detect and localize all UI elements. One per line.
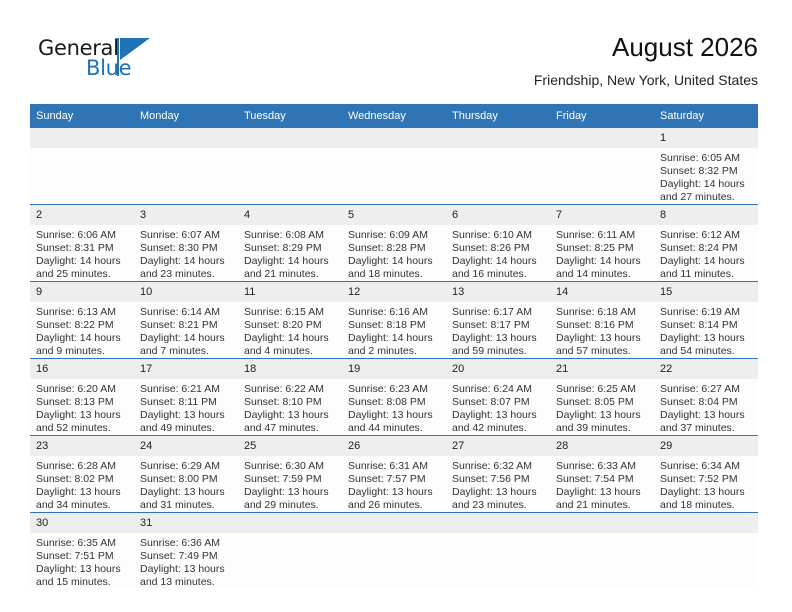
day-number: 25	[238, 436, 342, 456]
sunrise-text: Sunrise: 6:28 AM	[36, 460, 128, 473]
calendar-week-row: 23Sunrise: 6:28 AMSunset: 8:02 PMDayligh…	[30, 436, 758, 513]
daylight-text-continued: and 21 minutes.	[556, 499, 648, 512]
calendar-day-cell[interactable]: 15Sunrise: 6:19 AMSunset: 8:14 PMDayligh…	[654, 282, 758, 359]
day-number: 18	[238, 359, 342, 379]
sunset-text: Sunset: 8:08 PM	[348, 396, 440, 409]
sunrise-text: Sunrise: 6:25 AM	[556, 383, 648, 396]
sunrise-text: Sunrise: 6:14 AM	[140, 306, 232, 319]
sunrise-text: Sunrise: 6:31 AM	[348, 460, 440, 473]
calendar-day-cell-empty	[550, 128, 654, 205]
day-details: Sunrise: 6:14 AMSunset: 8:21 PMDaylight:…	[134, 302, 238, 358]
daylight-text: Daylight: 13 hours	[660, 486, 752, 499]
sunset-text: Sunset: 8:26 PM	[452, 242, 544, 255]
daylight-text: Daylight: 13 hours	[348, 486, 440, 499]
daylight-text: Daylight: 13 hours	[244, 486, 336, 499]
sunset-text: Sunset: 8:18 PM	[348, 319, 440, 332]
daylight-text-continued: and 7 minutes.	[140, 345, 232, 358]
sunrise-text: Sunrise: 6:15 AM	[244, 306, 336, 319]
day-number	[654, 513, 758, 533]
day-number: 24	[134, 436, 238, 456]
daylight-text: Daylight: 14 hours	[348, 332, 440, 345]
sunrise-text: Sunrise: 6:16 AM	[348, 306, 440, 319]
general-blue-logo[interactable]: General Blue	[38, 36, 158, 84]
daylight-text: Daylight: 13 hours	[556, 332, 648, 345]
sunset-text: Sunset: 7:56 PM	[452, 473, 544, 486]
day-number: 11	[238, 282, 342, 302]
calendar-day-cell[interactable]: 29Sunrise: 6:34 AMSunset: 7:52 PMDayligh…	[654, 436, 758, 513]
calendar-week-row: 30Sunrise: 6:35 AMSunset: 7:51 PMDayligh…	[30, 513, 758, 590]
day-details: Sunrise: 6:25 AMSunset: 8:05 PMDaylight:…	[550, 379, 654, 435]
sunrise-text: Sunrise: 6:22 AM	[244, 383, 336, 396]
day-details: Sunrise: 6:32 AMSunset: 7:56 PMDaylight:…	[446, 456, 550, 512]
day-number	[238, 513, 342, 533]
sunset-text: Sunset: 8:22 PM	[36, 319, 128, 332]
sunrise-text: Sunrise: 6:34 AM	[660, 460, 752, 473]
daylight-text: Daylight: 13 hours	[556, 409, 648, 422]
daylight-text-continued: and 11 minutes.	[660, 268, 752, 281]
daylight-text: Daylight: 13 hours	[140, 563, 232, 576]
day-number: 23	[30, 436, 134, 456]
weekday-header-friday: Friday	[550, 104, 654, 128]
sunset-text: Sunset: 7:54 PM	[556, 473, 648, 486]
day-number	[238, 128, 342, 148]
calendar-day-cell[interactable]: 18Sunrise: 6:22 AMSunset: 8:10 PMDayligh…	[238, 359, 342, 436]
sunset-text: Sunset: 8:25 PM	[556, 242, 648, 255]
sunrise-text: Sunrise: 6:20 AM	[36, 383, 128, 396]
daylight-text: Daylight: 14 hours	[452, 255, 544, 268]
day-number: 10	[134, 282, 238, 302]
day-number: 12	[342, 282, 446, 302]
sunrise-text: Sunrise: 6:05 AM	[660, 152, 752, 165]
sunset-text: Sunset: 8:30 PM	[140, 242, 232, 255]
page-title: August 2026	[534, 30, 758, 64]
daylight-text-continued: and 34 minutes.	[36, 499, 128, 512]
sunrise-sunset-calendar: Sunday Monday Tuesday Wednesday Thursday…	[30, 104, 758, 589]
sunrise-text: Sunrise: 6:27 AM	[660, 383, 752, 396]
daylight-text: Daylight: 13 hours	[36, 486, 128, 499]
sunrise-text: Sunrise: 6:19 AM	[660, 306, 752, 319]
daylight-text: Daylight: 13 hours	[452, 332, 544, 345]
sunrise-text: Sunrise: 6:08 AM	[244, 229, 336, 242]
daylight-text-continued: and 18 minutes.	[348, 268, 440, 281]
weekday-header-monday: Monday	[134, 104, 238, 128]
calendar-day-cell[interactable]: 5Sunrise: 6:09 AMSunset: 8:28 PMDaylight…	[342, 205, 446, 282]
calendar-day-cell-empty	[134, 128, 238, 205]
day-number: 6	[446, 205, 550, 225]
calendar-day-cell[interactable]: 11Sunrise: 6:15 AMSunset: 8:20 PMDayligh…	[238, 282, 342, 359]
daylight-text-continued: and 44 minutes.	[348, 422, 440, 435]
sunset-text: Sunset: 7:49 PM	[140, 550, 232, 563]
daylight-text: Daylight: 14 hours	[36, 255, 128, 268]
daylight-text-continued: and 27 minutes.	[660, 191, 752, 204]
calendar-day-cell[interactable]: 13Sunrise: 6:17 AMSunset: 8:17 PMDayligh…	[446, 282, 550, 359]
calendar-day-cell-empty	[654, 513, 758, 590]
daylight-text-continued: and 21 minutes.	[244, 268, 336, 281]
daylight-text-continued: and 9 minutes.	[36, 345, 128, 358]
daylight-text-continued: and 37 minutes.	[660, 422, 752, 435]
day-number	[446, 128, 550, 148]
sunrise-text: Sunrise: 6:17 AM	[452, 306, 544, 319]
daylight-text: Daylight: 13 hours	[660, 409, 752, 422]
day-number	[30, 128, 134, 148]
daylight-text-continued: and 39 minutes.	[556, 422, 648, 435]
daylight-text-continued: and 29 minutes.	[244, 499, 336, 512]
day-number: 26	[342, 436, 446, 456]
daylight-text-continued: and 23 minutes.	[452, 499, 544, 512]
daylight-text-continued: and 59 minutes.	[452, 345, 544, 358]
sunset-text: Sunset: 8:24 PM	[660, 242, 752, 255]
daylight-text-continued: and 15 minutes.	[36, 576, 128, 589]
daylight-text-continued: and 52 minutes.	[36, 422, 128, 435]
page-subtitle: Friendship, New York, United States	[534, 70, 758, 90]
calendar-day-cell[interactable]: 27Sunrise: 6:32 AMSunset: 7:56 PMDayligh…	[446, 436, 550, 513]
daylight-text: Daylight: 14 hours	[140, 255, 232, 268]
sunset-text: Sunset: 8:04 PM	[660, 396, 752, 409]
sunset-text: Sunset: 8:14 PM	[660, 319, 752, 332]
calendar-day-cell-empty	[30, 128, 134, 205]
sunset-text: Sunset: 7:52 PM	[660, 473, 752, 486]
daylight-text: Daylight: 13 hours	[140, 486, 232, 499]
sunrise-text: Sunrise: 6:09 AM	[348, 229, 440, 242]
sunset-text: Sunset: 8:20 PM	[244, 319, 336, 332]
calendar-day-cell[interactable]: 4Sunrise: 6:08 AMSunset: 8:29 PMDaylight…	[238, 205, 342, 282]
calendar-day-cell[interactable]: 6Sunrise: 6:10 AMSunset: 8:26 PMDaylight…	[446, 205, 550, 282]
calendar-day-cell-empty	[238, 513, 342, 590]
daylight-text-continued: and 57 minutes.	[556, 345, 648, 358]
calendar-page: General Blue August 2026 Friendship, New…	[0, 0, 792, 612]
daylight-text: Daylight: 13 hours	[348, 409, 440, 422]
calendar-day-cell[interactable]: 21Sunrise: 6:25 AMSunset: 8:05 PMDayligh…	[550, 359, 654, 436]
calendar-day-cell[interactable]: 12Sunrise: 6:16 AMSunset: 8:18 PMDayligh…	[342, 282, 446, 359]
day-number: 19	[342, 359, 446, 379]
page-header: General Blue August 2026 Friendship, New…	[0, 0, 792, 104]
day-details: Sunrise: 6:24 AMSunset: 8:07 PMDaylight:…	[446, 379, 550, 435]
day-number: 13	[446, 282, 550, 302]
weekday-header-tuesday: Tuesday	[238, 104, 342, 128]
calendar-day-cell[interactable]: 30Sunrise: 6:35 AMSunset: 7:51 PMDayligh…	[30, 513, 134, 590]
calendar-day-cell[interactable]: 1Sunrise: 6:05 AMSunset: 8:32 PMDaylight…	[654, 128, 758, 205]
day-details: Sunrise: 6:06 AMSunset: 8:31 PMDaylight:…	[30, 225, 134, 281]
day-details: Sunrise: 6:23 AMSunset: 8:08 PMDaylight:…	[342, 379, 446, 435]
daylight-text-continued: and 54 minutes.	[660, 345, 752, 358]
day-details: Sunrise: 6:15 AMSunset: 8:20 PMDaylight:…	[238, 302, 342, 358]
daylight-text-continued: and 42 minutes.	[452, 422, 544, 435]
day-number	[446, 513, 550, 533]
day-number: 14	[550, 282, 654, 302]
calendar-day-cell[interactable]: 8Sunrise: 6:12 AMSunset: 8:24 PMDaylight…	[654, 205, 758, 282]
sunset-text: Sunset: 8:07 PM	[452, 396, 544, 409]
day-details: Sunrise: 6:13 AMSunset: 8:22 PMDaylight:…	[30, 302, 134, 358]
daylight-text-continued: and 14 minutes.	[556, 268, 648, 281]
weekday-header-row: Sunday Monday Tuesday Wednesday Thursday…	[30, 104, 758, 128]
sunset-text: Sunset: 7:51 PM	[36, 550, 128, 563]
daylight-text-continued: and 47 minutes.	[244, 422, 336, 435]
day-number: 5	[342, 205, 446, 225]
day-number: 8	[654, 205, 758, 225]
sunset-text: Sunset: 8:02 PM	[36, 473, 128, 486]
sunset-text: Sunset: 8:17 PM	[452, 319, 544, 332]
daylight-text-continued: and 2 minutes.	[348, 345, 440, 358]
day-details: Sunrise: 6:05 AMSunset: 8:32 PMDaylight:…	[654, 148, 758, 204]
day-details: Sunrise: 6:28 AMSunset: 8:02 PMDaylight:…	[30, 456, 134, 512]
sunrise-text: Sunrise: 6:13 AM	[36, 306, 128, 319]
calendar-day-cell-empty	[238, 128, 342, 205]
day-number: 9	[30, 282, 134, 302]
day-details: Sunrise: 6:27 AMSunset: 8:04 PMDaylight:…	[654, 379, 758, 435]
weekday-header-saturday: Saturday	[654, 104, 758, 128]
calendar-day-cell[interactable]: 3Sunrise: 6:07 AMSunset: 8:30 PMDaylight…	[134, 205, 238, 282]
sunset-text: Sunset: 8:10 PM	[244, 396, 336, 409]
calendar-day-cell[interactable]: 14Sunrise: 6:18 AMSunset: 8:16 PMDayligh…	[550, 282, 654, 359]
daylight-text-continued: and 49 minutes.	[140, 422, 232, 435]
weekday-header-thursday: Thursday	[446, 104, 550, 128]
calendar-day-cell-empty	[446, 128, 550, 205]
sunset-text: Sunset: 7:57 PM	[348, 473, 440, 486]
daylight-text: Daylight: 14 hours	[556, 255, 648, 268]
sunset-text: Sunset: 8:16 PM	[556, 319, 648, 332]
day-number: 30	[30, 513, 134, 533]
calendar-day-cell[interactable]: 28Sunrise: 6:33 AMSunset: 7:54 PMDayligh…	[550, 436, 654, 513]
calendar-week-row: 16Sunrise: 6:20 AMSunset: 8:13 PMDayligh…	[30, 359, 758, 436]
calendar-week-row: 2Sunrise: 6:06 AMSunset: 8:31 PMDaylight…	[30, 205, 758, 282]
day-number	[550, 128, 654, 148]
sunrise-text: Sunrise: 6:18 AM	[556, 306, 648, 319]
day-details: Sunrise: 6:20 AMSunset: 8:13 PMDaylight:…	[30, 379, 134, 435]
daylight-text: Daylight: 13 hours	[140, 409, 232, 422]
sunset-text: Sunset: 8:05 PM	[556, 396, 648, 409]
day-details: Sunrise: 6:35 AMSunset: 7:51 PMDaylight:…	[30, 533, 134, 589]
day-details: Sunrise: 6:07 AMSunset: 8:30 PMDaylight:…	[134, 225, 238, 281]
day-details: Sunrise: 6:33 AMSunset: 7:54 PMDaylight:…	[550, 456, 654, 512]
daylight-text: Daylight: 14 hours	[660, 178, 752, 191]
sunset-text: Sunset: 7:59 PM	[244, 473, 336, 486]
sunset-text: Sunset: 8:28 PM	[348, 242, 440, 255]
daylight-text: Daylight: 13 hours	[556, 486, 648, 499]
logo-text-blue: Blue	[86, 56, 131, 80]
calendar-day-cell[interactable]: 10Sunrise: 6:14 AMSunset: 8:21 PMDayligh…	[134, 282, 238, 359]
sunrise-text: Sunrise: 6:06 AM	[36, 229, 128, 242]
sunrise-text: Sunrise: 6:36 AM	[140, 537, 232, 550]
daylight-text: Daylight: 14 hours	[660, 255, 752, 268]
calendar-day-cell-empty	[342, 128, 446, 205]
daylight-text-continued: and 25 minutes.	[36, 268, 128, 281]
calendar-day-cell[interactable]: 16Sunrise: 6:20 AMSunset: 8:13 PMDayligh…	[30, 359, 134, 436]
day-number: 21	[550, 359, 654, 379]
day-number: 15	[654, 282, 758, 302]
calendar-day-cell[interactable]: 2Sunrise: 6:06 AMSunset: 8:31 PMDaylight…	[30, 205, 134, 282]
sunset-text: Sunset: 8:31 PM	[36, 242, 128, 255]
sunset-text: Sunset: 8:13 PM	[36, 396, 128, 409]
calendar-day-cell[interactable]: 20Sunrise: 6:24 AMSunset: 8:07 PMDayligh…	[446, 359, 550, 436]
calendar-day-cell-empty	[342, 513, 446, 590]
day-details: Sunrise: 6:11 AMSunset: 8:25 PMDaylight:…	[550, 225, 654, 281]
daylight-text-continued: and 18 minutes.	[660, 499, 752, 512]
day-details: Sunrise: 6:16 AMSunset: 8:18 PMDaylight:…	[342, 302, 446, 358]
daylight-text: Daylight: 14 hours	[244, 255, 336, 268]
sunrise-text: Sunrise: 6:30 AM	[244, 460, 336, 473]
daylight-text: Daylight: 13 hours	[36, 563, 128, 576]
day-details: Sunrise: 6:08 AMSunset: 8:29 PMDaylight:…	[238, 225, 342, 281]
day-details: Sunrise: 6:22 AMSunset: 8:10 PMDaylight:…	[238, 379, 342, 435]
day-details: Sunrise: 6:18 AMSunset: 8:16 PMDaylight:…	[550, 302, 654, 358]
sunset-text: Sunset: 8:32 PM	[660, 165, 752, 178]
day-number: 3	[134, 205, 238, 225]
daylight-text-continued: and 13 minutes.	[140, 576, 232, 589]
sunrise-text: Sunrise: 6:11 AM	[556, 229, 648, 242]
sunrise-text: Sunrise: 6:32 AM	[452, 460, 544, 473]
daylight-text-continued: and 31 minutes.	[140, 499, 232, 512]
daylight-text-continued: and 26 minutes.	[348, 499, 440, 512]
daylight-text: Daylight: 13 hours	[660, 332, 752, 345]
calendar-day-cell-empty	[550, 513, 654, 590]
day-number: 2	[30, 205, 134, 225]
day-number: 16	[30, 359, 134, 379]
day-number: 1	[654, 128, 758, 148]
day-number: 17	[134, 359, 238, 379]
day-number: 22	[654, 359, 758, 379]
day-number: 28	[550, 436, 654, 456]
day-number	[550, 513, 654, 533]
sunset-text: Sunset: 8:21 PM	[140, 319, 232, 332]
sunset-text: Sunset: 8:00 PM	[140, 473, 232, 486]
calendar-day-cell[interactable]: 23Sunrise: 6:28 AMSunset: 8:02 PMDayligh…	[30, 436, 134, 513]
day-details: Sunrise: 6:12 AMSunset: 8:24 PMDaylight:…	[654, 225, 758, 281]
day-details: Sunrise: 6:17 AMSunset: 8:17 PMDaylight:…	[446, 302, 550, 358]
weekday-header-sunday: Sunday	[30, 104, 134, 128]
daylight-text: Daylight: 14 hours	[348, 255, 440, 268]
day-number	[342, 513, 446, 533]
calendar-day-cell[interactable]: 17Sunrise: 6:21 AMSunset: 8:11 PMDayligh…	[134, 359, 238, 436]
day-details: Sunrise: 6:19 AMSunset: 8:14 PMDaylight:…	[654, 302, 758, 358]
calendar-day-cell[interactable]: 7Sunrise: 6:11 AMSunset: 8:25 PMDaylight…	[550, 205, 654, 282]
sunrise-text: Sunrise: 6:24 AM	[452, 383, 544, 396]
sunrise-text: Sunrise: 6:07 AM	[140, 229, 232, 242]
daylight-text: Daylight: 14 hours	[140, 332, 232, 345]
day-number: 20	[446, 359, 550, 379]
calendar-day-cell[interactable]: 19Sunrise: 6:23 AMSunset: 8:08 PMDayligh…	[342, 359, 446, 436]
daylight-text-continued: and 4 minutes.	[244, 345, 336, 358]
calendar-day-cell[interactable]: 24Sunrise: 6:29 AMSunset: 8:00 PMDayligh…	[134, 436, 238, 513]
day-number: 29	[654, 436, 758, 456]
sunrise-text: Sunrise: 6:21 AM	[140, 383, 232, 396]
sunrise-text: Sunrise: 6:33 AM	[556, 460, 648, 473]
calendar-day-cell[interactable]: 25Sunrise: 6:30 AMSunset: 7:59 PMDayligh…	[238, 436, 342, 513]
sunrise-text: Sunrise: 6:10 AM	[452, 229, 544, 242]
sunset-text: Sunset: 8:11 PM	[140, 396, 232, 409]
sunrise-text: Sunrise: 6:12 AM	[660, 229, 752, 242]
calendar-day-cell[interactable]: 22Sunrise: 6:27 AMSunset: 8:04 PMDayligh…	[654, 359, 758, 436]
title-block: August 2026 Friendship, New York, United…	[534, 30, 758, 90]
daylight-text: Daylight: 14 hours	[36, 332, 128, 345]
day-number	[134, 128, 238, 148]
day-details: Sunrise: 6:31 AMSunset: 7:57 PMDaylight:…	[342, 456, 446, 512]
daylight-text: Daylight: 14 hours	[244, 332, 336, 345]
daylight-text: Daylight: 13 hours	[36, 409, 128, 422]
calendar-week-row: 1Sunrise: 6:05 AMSunset: 8:32 PMDaylight…	[30, 128, 758, 205]
day-details: Sunrise: 6:29 AMSunset: 8:00 PMDaylight:…	[134, 456, 238, 512]
sunrise-text: Sunrise: 6:35 AM	[36, 537, 128, 550]
daylight-text: Daylight: 13 hours	[452, 486, 544, 499]
day-details: Sunrise: 6:09 AMSunset: 8:28 PMDaylight:…	[342, 225, 446, 281]
sunrise-text: Sunrise: 6:23 AM	[348, 383, 440, 396]
daylight-text-continued: and 23 minutes.	[140, 268, 232, 281]
day-details: Sunrise: 6:21 AMSunset: 8:11 PMDaylight:…	[134, 379, 238, 435]
day-number: 7	[550, 205, 654, 225]
calendar-week-row: 9Sunrise: 6:13 AMSunset: 8:22 PMDaylight…	[30, 282, 758, 359]
day-number: 31	[134, 513, 238, 533]
day-details: Sunrise: 6:34 AMSunset: 7:52 PMDaylight:…	[654, 456, 758, 512]
sunset-text: Sunset: 8:29 PM	[244, 242, 336, 255]
day-details: Sunrise: 6:36 AMSunset: 7:49 PMDaylight:…	[134, 533, 238, 589]
calendar-day-cell[interactable]: 9Sunrise: 6:13 AMSunset: 8:22 PMDaylight…	[30, 282, 134, 359]
weekday-header-wednesday: Wednesday	[342, 104, 446, 128]
day-number: 27	[446, 436, 550, 456]
day-number	[342, 128, 446, 148]
daylight-text-continued: and 16 minutes.	[452, 268, 544, 281]
calendar-day-cell[interactable]: 26Sunrise: 6:31 AMSunset: 7:57 PMDayligh…	[342, 436, 446, 513]
day-number: 4	[238, 205, 342, 225]
daylight-text: Daylight: 13 hours	[244, 409, 336, 422]
day-details: Sunrise: 6:30 AMSunset: 7:59 PMDaylight:…	[238, 456, 342, 512]
calendar-body: 1Sunrise: 6:05 AMSunset: 8:32 PMDaylight…	[30, 128, 758, 589]
calendar-day-cell-empty	[446, 513, 550, 590]
daylight-text: Daylight: 13 hours	[452, 409, 544, 422]
day-details: Sunrise: 6:10 AMSunset: 8:26 PMDaylight:…	[446, 225, 550, 281]
sunrise-text: Sunrise: 6:29 AM	[140, 460, 232, 473]
calendar-day-cell[interactable]: 31Sunrise: 6:36 AMSunset: 7:49 PMDayligh…	[134, 513, 238, 590]
